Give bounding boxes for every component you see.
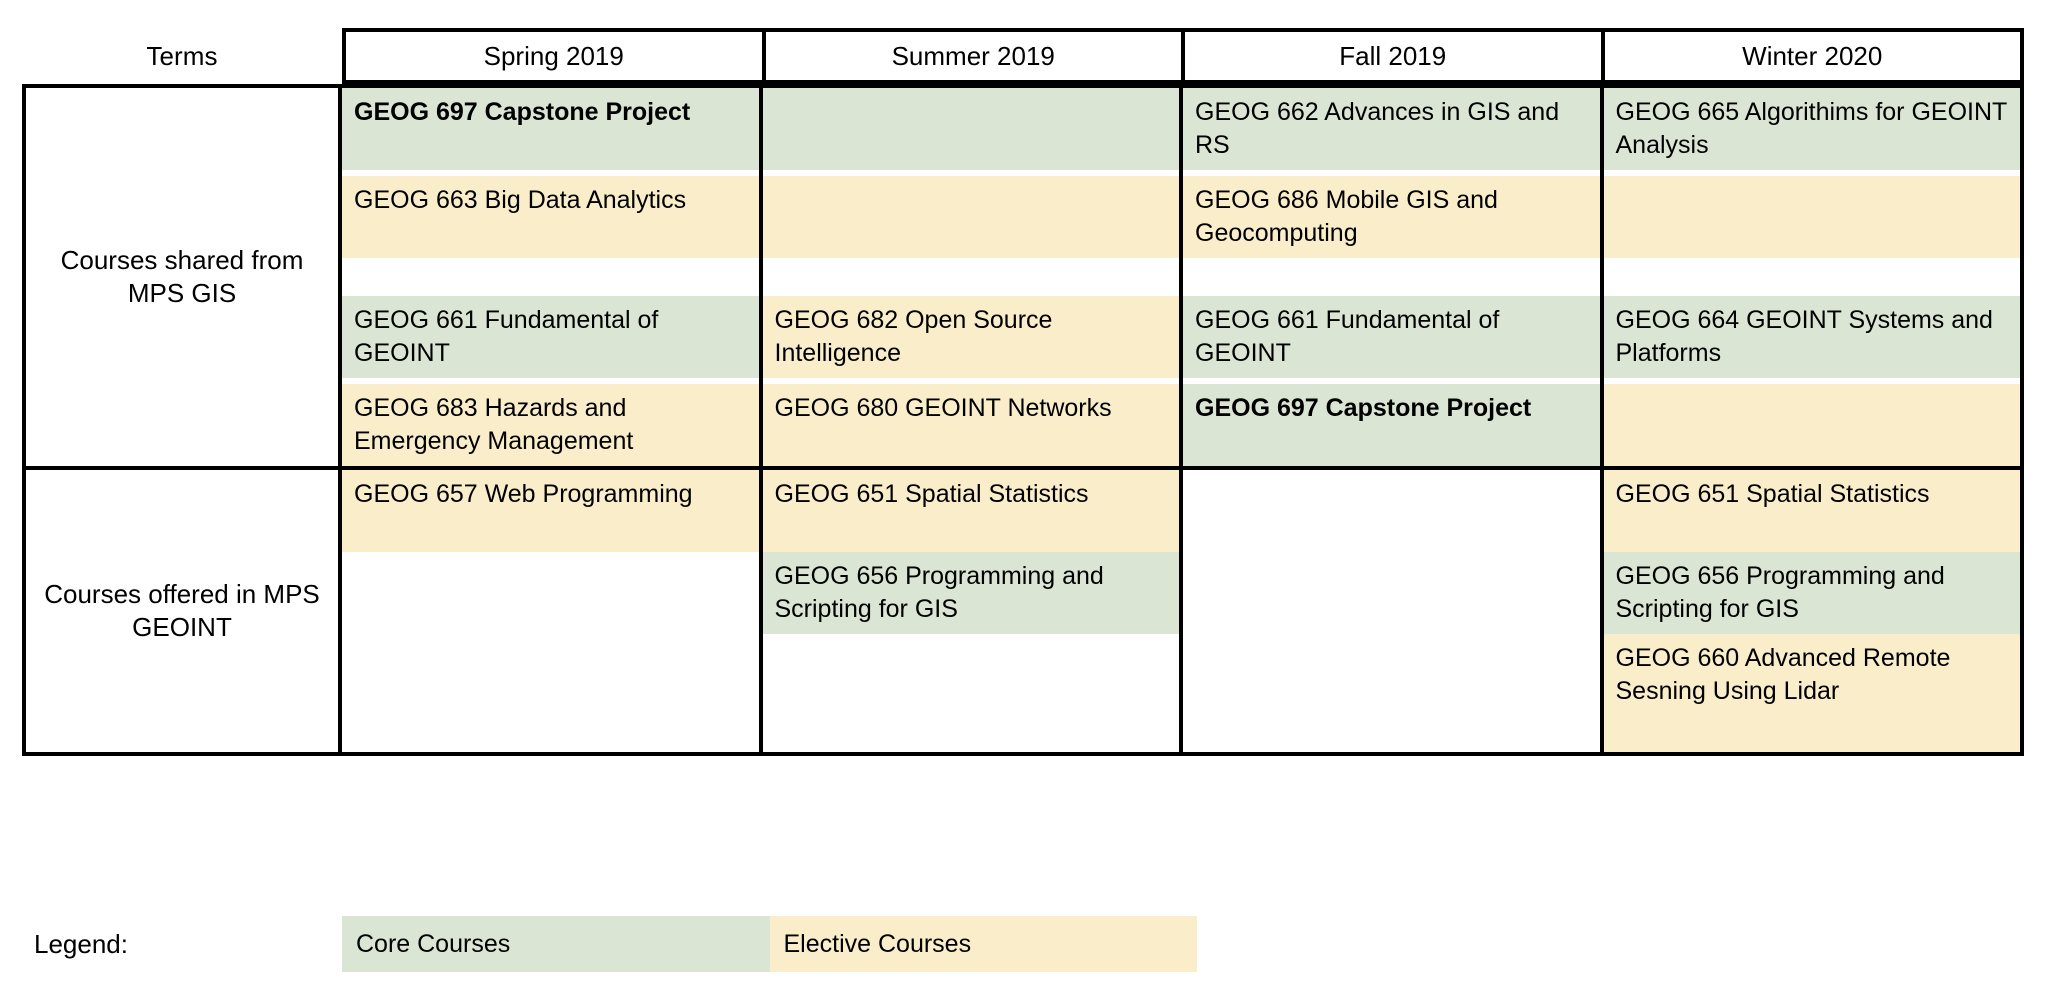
section-1-columns: GEOG 697 Capstone Project GEOG 663 Big D… (342, 88, 2020, 466)
course-cell: GEOG 651 Spatial Statistics (763, 470, 1180, 552)
section-1-column-winter-2020: GEOG 665 Algorithims for GEOINT Analysis… (1604, 88, 2021, 466)
course-cell: GEOG 665 Algorithims for GEOINT Analysis (1604, 88, 2021, 170)
course-cell: GEOG 661 Fundamental of GEOINT (1183, 296, 1600, 378)
course-cell: GEOG 697 Capstone Project (1183, 384, 1600, 466)
legend: Legend: Core Courses Elective Courses (22, 916, 2024, 972)
section-1-column-spring-2019: GEOG 697 Capstone Project GEOG 663 Big D… (342, 88, 763, 466)
course-cell: GEOG 657 Web Programming (342, 470, 759, 552)
course-cell-empty (1604, 384, 2021, 466)
course-cell-empty (763, 634, 1180, 752)
course-cell-empty (342, 552, 759, 634)
course-cell: GEOG 656 Programming and Scripting for G… (763, 552, 1180, 634)
course-cell-empty (1604, 176, 2021, 258)
section-1-column-fall-2019: GEOG 662 Advances in GIS and RS GEOG 686… (1183, 88, 1604, 466)
course-cell-empty (1604, 258, 2021, 296)
section-2-column-spring-2019: GEOG 657 Web Programming (342, 470, 763, 752)
course-cell: GEOG 656 Programming and Scripting for G… (1604, 552, 2021, 634)
course-cell: GEOG 697 Capstone Project (342, 88, 759, 170)
course-cell: GEOG 664 GEOINT Systems and Platforms (1604, 296, 2021, 378)
course-cell-empty (342, 258, 759, 296)
section-2-columns: GEOG 657 Web Programming GEOG 651 Spatia… (342, 470, 2020, 752)
terms-header-label: Terms (22, 28, 342, 84)
course-cell: GEOG 682 Open Source Intelligence (763, 296, 1180, 378)
column-header-winter-2020: Winter 2020 (1601, 28, 2025, 84)
legend-label: Legend: (22, 916, 342, 972)
column-header-spring-2019: Spring 2019 (342, 28, 762, 84)
course-cell-empty (1183, 470, 1600, 552)
section-label-courses-shared-from-mps-gis: Courses shared from MPS GIS (26, 88, 342, 466)
legend-elective-courses: Elective Courses (770, 916, 1198, 972)
section-courses-offered-in-mps-geoint: Courses offered in MPS GEOINT GEOG 657 W… (22, 470, 2024, 756)
schedule-grid: Terms Spring 2019 Summer 2019 Fall 2019 … (22, 28, 2024, 756)
course-cell: GEOG 680 GEOINT Networks (763, 384, 1180, 466)
section-label-courses-offered-in-mps-geoint: Courses offered in MPS GEOINT (26, 470, 342, 752)
column-header-fall-2019: Fall 2019 (1181, 28, 1601, 84)
legend-spacer (1197, 916, 2024, 972)
course-cell-empty (763, 176, 1180, 258)
section-courses-shared-from-mps-gis: Courses shared from MPS GIS GEOG 697 Cap… (22, 84, 2024, 470)
course-cell-empty (1183, 634, 1600, 752)
course-cell-empty (1183, 552, 1600, 634)
course-cell: GEOG 660 Advanced Remote Sesning Using L… (1604, 634, 2021, 752)
course-cell-empty (342, 634, 759, 752)
course-schedule-table: Terms Spring 2019 Summer 2019 Fall 2019 … (0, 0, 2046, 996)
column-header-summer-2019: Summer 2019 (762, 28, 1182, 84)
section-2-column-winter-2020: GEOG 651 Spatial Statistics GEOG 656 Pro… (1604, 470, 2021, 752)
section-1-column-summer-2019: GEOG 682 Open Source Intelligence GEOG 6… (763, 88, 1184, 466)
course-cell: GEOG 662 Advances in GIS and RS (1183, 88, 1600, 170)
course-cell-empty (763, 258, 1180, 296)
course-cell: GEOG 663 Big Data Analytics (342, 176, 759, 258)
course-cell: GEOG 686 Mobile GIS and Geocomputing (1183, 176, 1600, 258)
course-cell: GEOG 651 Spatial Statistics (1604, 470, 2021, 552)
course-cell: GEOG 661 Fundamental of GEOINT (342, 296, 759, 378)
section-2-column-fall-2019 (1183, 470, 1604, 752)
course-cell-empty (763, 88, 1180, 170)
section-2-column-summer-2019: GEOG 651 Spatial Statistics GEOG 656 Pro… (763, 470, 1184, 752)
course-cell: GEOG 683 Hazards and Emergency Managemen… (342, 384, 759, 466)
table-header-row: Terms Spring 2019 Summer 2019 Fall 2019 … (22, 28, 2024, 84)
course-cell-empty (1183, 258, 1600, 296)
legend-core-courses: Core Courses (342, 916, 770, 972)
